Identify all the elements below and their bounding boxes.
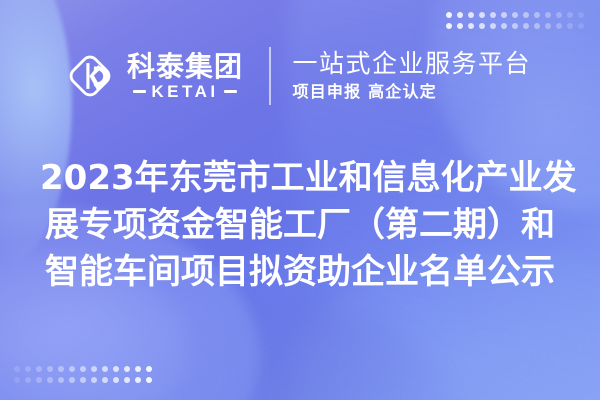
decor-dot bbox=[135, 377, 141, 383]
decor-dot bbox=[14, 366, 20, 372]
page-title: 2023年东莞市工业和信息化产业发 展专项资金智能工厂（第二期）和 智能车间项目… bbox=[0, 155, 600, 296]
decor-dot bbox=[578, 23, 584, 29]
decor-dot bbox=[113, 366, 119, 372]
decor-dot bbox=[102, 377, 108, 383]
tagline-main: 一站式企业服务平台 bbox=[293, 49, 532, 79]
decor-dot bbox=[534, 23, 540, 29]
ketai-logo-wordmark: 科泰集团 KETAI bbox=[127, 52, 243, 100]
decor-dot bbox=[567, 12, 573, 18]
decor-dot bbox=[479, 23, 485, 29]
decor-dot bbox=[135, 366, 141, 372]
decor-dot bbox=[523, 12, 529, 18]
decor-dot bbox=[47, 377, 53, 383]
decor-dot bbox=[124, 366, 130, 372]
page-title-line-3: 智能车间项目拟资助企业名单公示 bbox=[40, 249, 560, 296]
decor-dot bbox=[501, 12, 507, 18]
decor-dot bbox=[25, 366, 31, 372]
decor-dot bbox=[47, 366, 53, 372]
logo-rule-right-icon bbox=[224, 90, 237, 93]
decor-dot bbox=[479, 12, 485, 18]
tagline-sub: 项目申报 高企认定 bbox=[293, 82, 532, 103]
ketai-diamond-kd-monogram-icon bbox=[62, 48, 118, 104]
banner-header: 科泰集团 KETAI 一站式企业服务平台 项目申报 高企认定 bbox=[62, 44, 531, 108]
decor-dot bbox=[69, 377, 75, 383]
decor-dot bbox=[545, 23, 551, 29]
decor-dot bbox=[446, 23, 452, 29]
decor-dot bbox=[25, 377, 31, 383]
decor-dot bbox=[36, 366, 42, 372]
logo-chinese-name: 科泰集团 bbox=[127, 52, 243, 81]
decor-dot bbox=[36, 377, 42, 383]
decor-dot bbox=[490, 23, 496, 29]
decor-dot bbox=[446, 12, 452, 18]
dot-grid-top-right-icon bbox=[446, 12, 584, 30]
decor-dot bbox=[490, 12, 496, 18]
page-title-line-2: 展专项资金智能工厂（第二期）和 bbox=[40, 202, 560, 249]
decor-dot bbox=[468, 12, 474, 18]
decor-dot bbox=[146, 366, 152, 372]
logo-rule-left-icon bbox=[133, 90, 146, 93]
logo-english-name: KETAI bbox=[151, 83, 218, 100]
announcement-banner: 科泰集团 KETAI 一站式企业服务平台 项目申报 高企认定 2023年东莞市工… bbox=[0, 0, 600, 400]
decor-dot bbox=[457, 23, 463, 29]
decor-dot bbox=[578, 12, 584, 18]
decor-dot bbox=[80, 366, 86, 372]
decor-dot bbox=[567, 23, 573, 29]
decor-blob-shadow-center bbox=[120, 300, 450, 400]
header-divider bbox=[269, 47, 271, 105]
decor-dot bbox=[102, 366, 108, 372]
decor-dot bbox=[468, 23, 474, 29]
decor-dot bbox=[512, 12, 518, 18]
decor-dot bbox=[91, 377, 97, 383]
decor-dot bbox=[91, 366, 97, 372]
decor-dot bbox=[58, 377, 64, 383]
decor-dot bbox=[545, 12, 551, 18]
decor-dot bbox=[14, 377, 20, 383]
decor-dot bbox=[512, 23, 518, 29]
decor-dot bbox=[69, 366, 75, 372]
dot-grid-bottom-left-icon bbox=[14, 366, 152, 384]
decor-dot bbox=[457, 12, 463, 18]
decor-dot bbox=[124, 377, 130, 383]
decor-dot bbox=[58, 366, 64, 372]
decor-dot bbox=[113, 377, 119, 383]
logo-english-row: KETAI bbox=[127, 83, 243, 100]
decor-dot bbox=[534, 12, 540, 18]
decor-dot bbox=[556, 12, 562, 18]
decor-dot bbox=[501, 23, 507, 29]
decor-dot bbox=[146, 377, 152, 383]
decor-dot bbox=[523, 23, 529, 29]
decor-dot bbox=[556, 23, 562, 29]
decor-dot bbox=[80, 377, 86, 383]
tagline-block: 一站式企业服务平台 项目申报 高企认定 bbox=[293, 49, 532, 102]
page-title-line-1: 2023年东莞市工业和信息化产业发 bbox=[40, 155, 560, 202]
ketai-logo[interactable]: 科泰集团 KETAI bbox=[62, 48, 243, 104]
